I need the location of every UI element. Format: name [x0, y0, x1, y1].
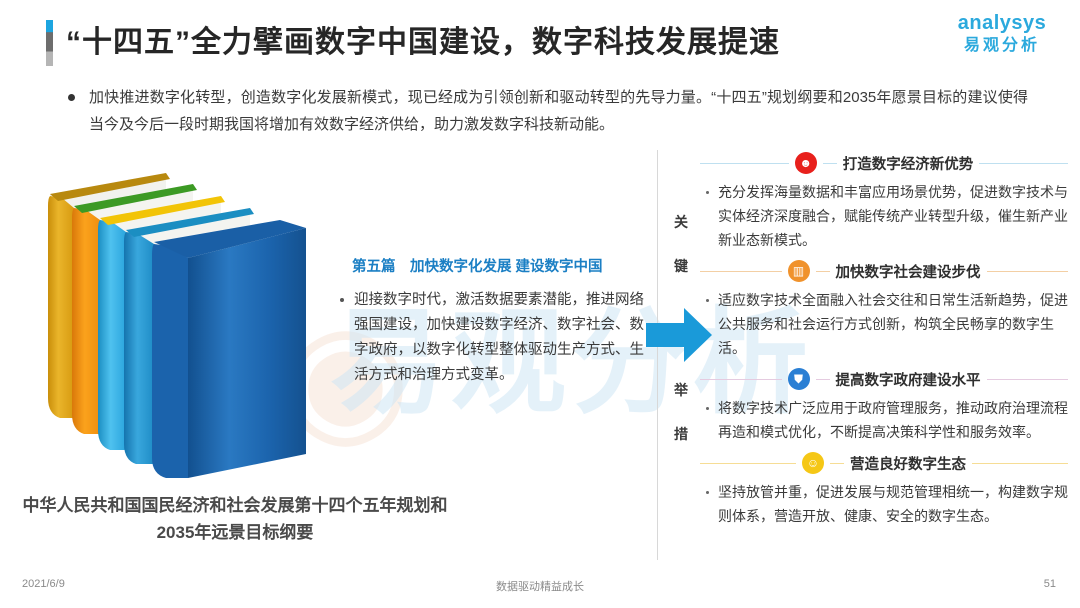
vertical-label-char-0: 关 [672, 212, 690, 232]
bullet-dot-icon [706, 191, 709, 194]
rule-right [972, 463, 1068, 464]
bullet-dot-icon [340, 298, 344, 302]
rule-mid [816, 271, 830, 272]
section-header: ☺ 营造良好数字生态 [700, 448, 1068, 478]
middle-section-body: 迎接数字时代，激活数据要素潜能，推进网络强国建设，加快建设数字经济、数字社会、数… [340, 288, 655, 388]
bullet-dot-icon [706, 491, 709, 494]
footer-slogan: 数据驱动精益成长 [0, 578, 1080, 594]
rule-right [987, 271, 1069, 272]
medal-icon: ☻ [795, 152, 817, 174]
bullet-dot-icon [706, 407, 709, 410]
middle-section-text: 迎接数字时代，激活数据要素潜能，推进网络强国建设，加快建设数字经济、数字社会、数… [354, 288, 655, 388]
section-text: 充分发挥海量数据和丰富应用场景优势，促进数字技术与实体经济深度融合，赋能传统产业… [718, 180, 1068, 252]
analysys-logo: analysys 易观分析 [942, 12, 1062, 56]
shield-icon: ⛊ [788, 368, 810, 390]
bullet-dot-icon [68, 94, 75, 101]
section-body: 适应数字技术全面融入社会交往和日常生活新趋势，促进公共服务和社会运行方式创新，构… [700, 286, 1068, 360]
section-digital-government: ⛊ 提高数字政府建设水平 将数字技术广泛应用于政府管理服务，推动政府治理流程再造… [700, 364, 1068, 444]
rule-left [700, 463, 796, 464]
section-text: 坚持放管并重，促进发展与规范管理相统一，构建数字规则体系，营造开放、健康、安全的… [718, 480, 1068, 528]
title-accent-bar [46, 20, 53, 66]
books-caption: 中华人民共和国国民经济和社会发展第十四个五年规划和2035年远景目标纲要 [20, 492, 450, 546]
footer-page-number: 51 [1044, 578, 1056, 590]
rule-right [987, 379, 1069, 380]
rule-left [700, 379, 782, 380]
section-body: 充分发挥海量数据和丰富应用场景优势，促进数字技术与实体经济深度融合，赋能传统产业… [700, 178, 1068, 252]
logo-en-text: analysys [942, 12, 1062, 34]
section-digital-society: ▥ 加快数字社会建设步伐 适应数字技术全面融入社会交往和日常生活新趋势，促进公共… [700, 256, 1068, 360]
page-title: “十四五”全力擘画数字中国建设，数字科技发展提速 [66, 20, 780, 66]
rule-mid [830, 463, 844, 464]
middle-section-title: 第五篇 加快数字化发展 建设数字中国 [352, 255, 652, 276]
section-text: 适应数字技术全面融入社会交往和日常生活新趋势，促进公共服务和社会运行方式创新，构… [718, 288, 1068, 360]
bank-building-icon: ▥ [788, 260, 810, 282]
section-title: 打造数字经济新优势 [843, 153, 974, 174]
person-icon: ☺ [802, 452, 824, 474]
section-header: ▥ 加快数字社会建设步伐 [700, 256, 1068, 286]
section-title: 提高数字政府建设水平 [836, 369, 981, 390]
section-digital-economy: ☻ 打造数字经济新优势 充分发挥海量数据和丰富应用场景优势，促进数字技术与实体经… [700, 148, 1068, 252]
slide: ◉ 易观分析 “十四五”全力擘画数字中国建设，数字科技发展提速 analysys… [0, 0, 1080, 608]
lead-paragraph: 加快推进数字化转型，创造数字化发展新模式，现已经成为引领创新和驱动转型的先导力量… [68, 84, 1028, 138]
section-header: ☻ 打造数字经济新优势 [700, 148, 1068, 178]
rule-left [700, 163, 789, 164]
section-title: 加快数字社会建设步伐 [836, 261, 981, 282]
rule-mid [823, 163, 837, 164]
section-digital-ecosystem: ☺ 营造良好数字生态 坚持放管并重，促进发展与规范管理相统一，构建数字规则体系，… [700, 448, 1068, 528]
vertical-label-char-2: 举 [672, 380, 690, 400]
lead-paragraph-text: 加快推进数字化转型，创造数字化发展新模式，现已经成为引领创新和驱动转型的先导力量… [89, 84, 1028, 138]
bullet-dot-icon [706, 299, 709, 302]
rule-left [700, 271, 782, 272]
books-svg [38, 168, 318, 478]
books-illustration [38, 168, 318, 478]
key-measures-panel: ☻ 打造数字经济新优势 充分发挥海量数据和丰富应用场景优势，促进数字技术与实体经… [700, 148, 1068, 532]
section-text: 将数字技术广泛应用于政府管理服务，推动政府治理流程再造和模式优化，不断提高决策科… [718, 396, 1068, 444]
section-body: 坚持放管并重，促进发展与规范管理相统一，构建数字规则体系，营造开放、健康、安全的… [700, 478, 1068, 528]
vertical-label-char-3: 措 [672, 424, 690, 444]
section-body: 将数字技术广泛应用于政府管理服务，推动政府治理流程再造和模式优化，不断提高决策科… [700, 394, 1068, 444]
rule-mid [816, 379, 830, 380]
section-header: ⛊ 提高数字政府建设水平 [700, 364, 1068, 394]
rule-right [979, 163, 1068, 164]
section-title: 营造良好数字生态 [850, 453, 966, 474]
logo-cn-text: 易观分析 [942, 36, 1062, 56]
vertical-label-char-1: 键 [672, 256, 690, 276]
